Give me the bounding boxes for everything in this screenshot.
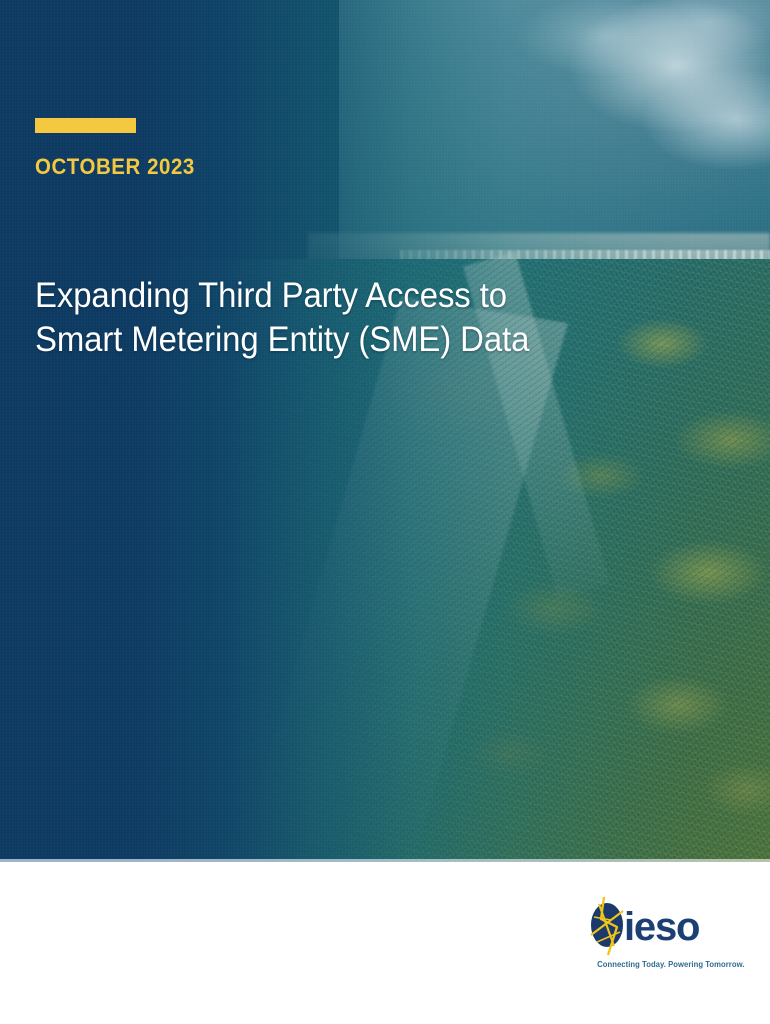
ieso-globe-icon	[587, 899, 627, 955]
ieso-logo: ieso Connecting Today. Powering Tomorrow…	[585, 898, 745, 976]
page-title-line-2: Smart Metering Entity (SME) Data	[35, 318, 477, 362]
publication-date: OCTOBER 2023	[35, 154, 195, 180]
hero-banner: OCTOBER 2023 Expanding Third Party Acces…	[0, 0, 770, 862]
document-cover-page: OCTOBER 2023 Expanding Third Party Acces…	[0, 0, 770, 1024]
page-title-line-1: Expanding Third Party Access to	[35, 274, 477, 318]
page-footer: ieso Connecting Today. Powering Tomorrow…	[0, 862, 770, 1024]
yellow-accent-bar	[35, 118, 136, 133]
ieso-tagline: Connecting Today. Powering Tomorrow.	[598, 960, 745, 969]
ieso-logo-lockup: ieso	[585, 898, 745, 956]
ieso-wordmark: ieso	[624, 907, 699, 947]
page-title: Expanding Third Party Access to Smart Me…	[35, 274, 477, 363]
